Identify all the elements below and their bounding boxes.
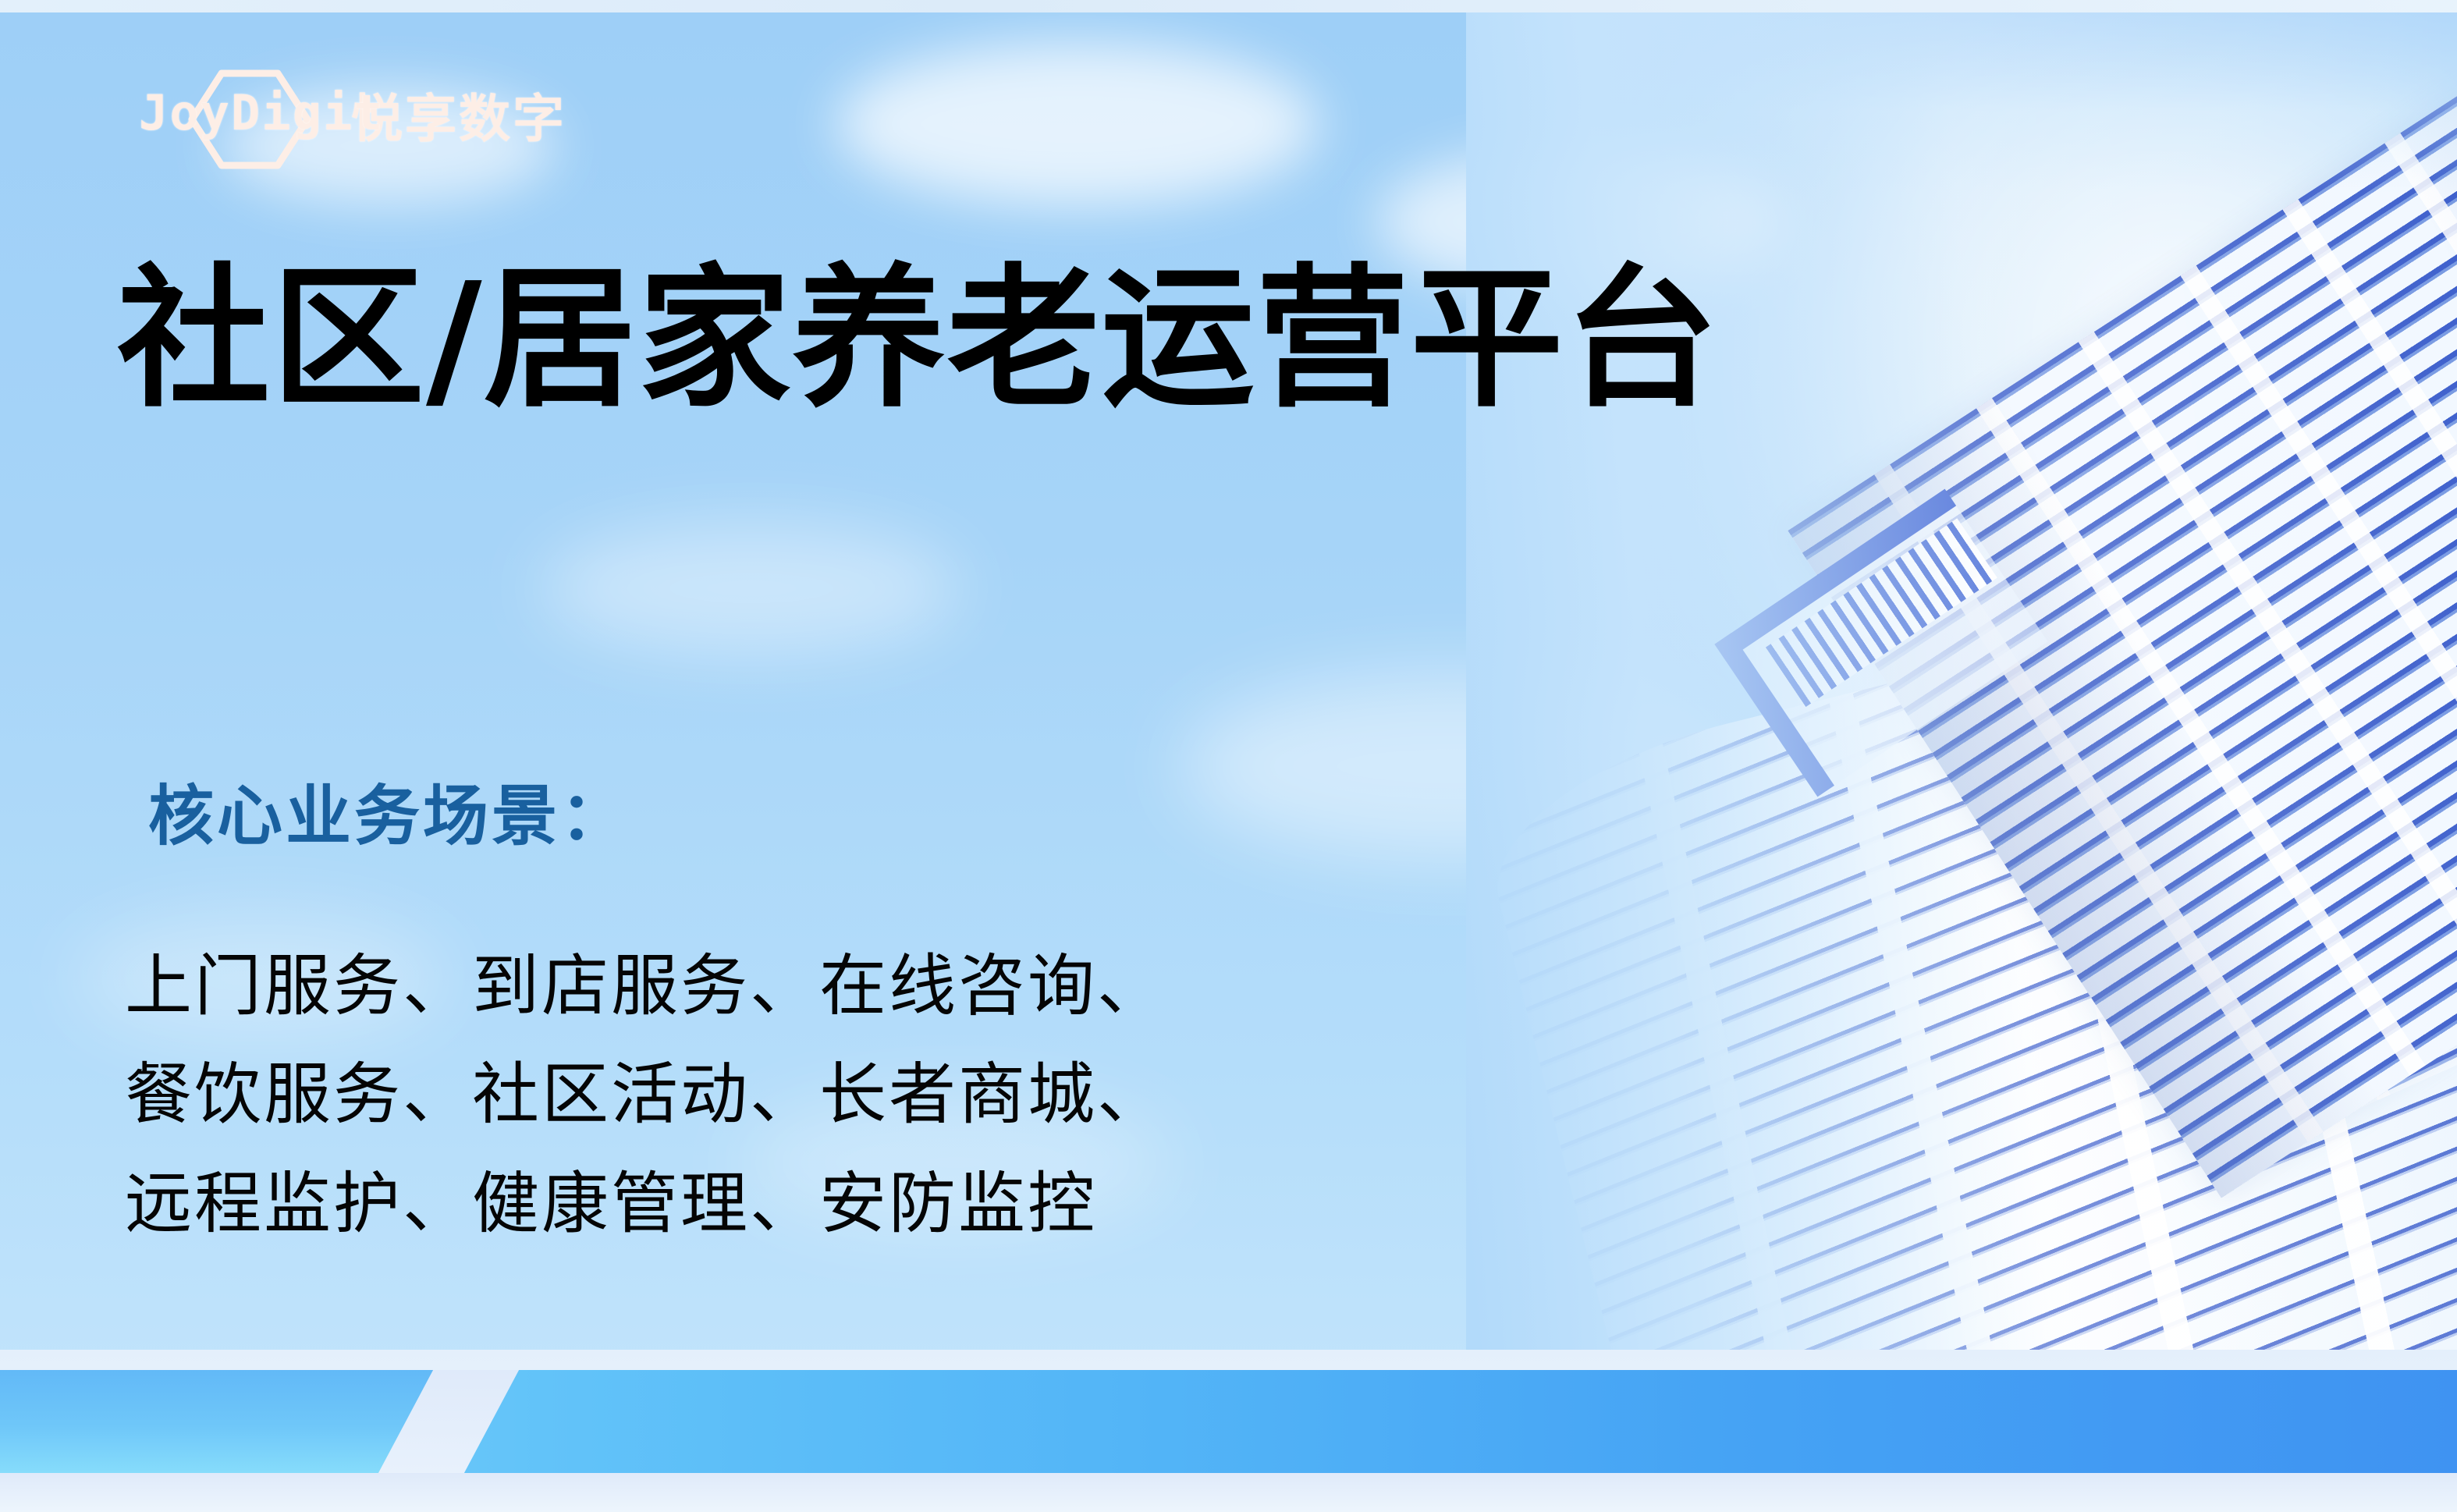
- logo-mark: JoyDigit: [139, 69, 331, 170]
- section-subheading: 核心业务场景：: [148, 780, 629, 852]
- top-edge-strip: [0, 0, 2457, 12]
- scenario-list: 上门服务、到店服务、在线咨询、 餐饮服务、社区活动、长者商城、 远程监护、健康管…: [125, 932, 1166, 1258]
- scenario-line: 远程监护、健康管理、安防监控: [125, 1150, 1166, 1258]
- page-title: 社区/居家养老运营平台: [117, 256, 1720, 424]
- building-top-haze: [1466, 12, 2457, 192]
- bottom-decorative-band: [0, 1350, 2457, 1512]
- brand-logo[interactable]: JoyDigit 悦享数字: [139, 69, 566, 170]
- bottom-band-underline-strip: [0, 1473, 2457, 1512]
- scenario-line: 餐饮服务、社区活动、长者商城、: [125, 1041, 1166, 1149]
- slide-root: JoyDigit 悦享数字 社区/居家养老运营平台 核心业务场景： 上门服务、到…: [0, 0, 2457, 1512]
- cloud-shape: [541, 522, 962, 655]
- scenario-line: 上门服务、到店服务、在线咨询、: [125, 932, 1166, 1041]
- logo-wordmark: JoyDigit: [139, 89, 385, 137]
- skyscraper-photo: [1466, 12, 2457, 1512]
